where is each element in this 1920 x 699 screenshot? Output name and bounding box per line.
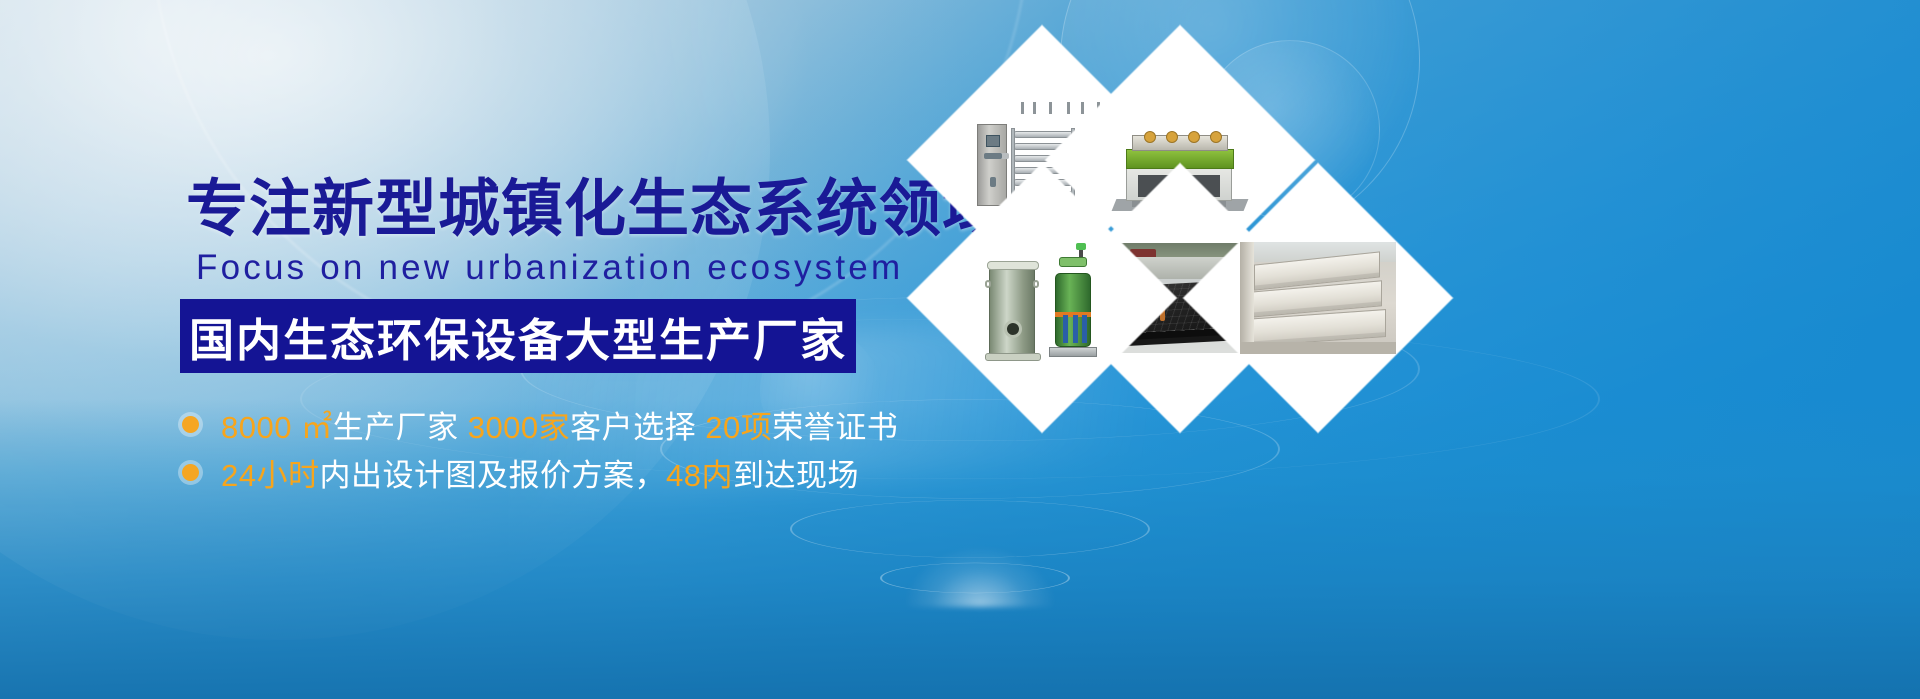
bullet-text: 24小时内出设计图及报价方案，48内到达现场 [221, 450, 859, 495]
bullet-text: 8000 ㎡生产厂家 3000家客户选择 20项荣誉证书 [221, 402, 898, 447]
bullet-item: 8000 ㎡生产厂家 3000家客户选择 20项荣誉证书 [182, 400, 898, 448]
banner-tagline-text: 国内生态环保设备大型生产厂家 [189, 304, 847, 369]
bullet-plain-text: 荣誉证书 [772, 410, 898, 445]
bullet-dot-icon [182, 464, 199, 481]
product-image-mosaic: 39 47 16 9 [905, 55, 1325, 485]
bullet-highlight-text: 20项 [705, 410, 772, 445]
bullet-plain-text: 到达现场 [733, 458, 859, 493]
banner-tagline-box: 国内生态环保设备大型生产厂家 [180, 299, 856, 373]
stacked-panels-photo [1240, 242, 1396, 354]
bullet-plain-text: 生产厂家 [333, 410, 468, 445]
banner-bullet-list: 8000 ㎡生产厂家 3000家客户选择 20项荣誉证书 24小时内出设计图及报… [182, 400, 898, 496]
bullet-highlight-text: 8000 ㎡ [221, 410, 333, 445]
bullet-dot-icon [182, 416, 199, 433]
bullet-highlight-text: 24小时 [221, 458, 319, 493]
banner-subheadline: Focus on new urbanization ecosystem [196, 250, 903, 285]
pump-vessels-illustration [967, 239, 1117, 357]
bullet-highlight-text: 3000家 [468, 410, 570, 445]
banner-copy-block: 专注新型城镇化生态系统领域 Focus on new urbanization … [0, 0, 960, 699]
banner-headline: 专注新型城镇化生态系统领域 [186, 179, 1005, 241]
bullet-highlight-text: 48内 [666, 458, 733, 493]
promotional-banner: 专注新型城镇化生态系统领域 Focus on new urbanization … [0, 0, 1920, 699]
bullet-plain-text: 客户选择 [570, 410, 705, 445]
bullet-item: 24小时内出设计图及报价方案，48内到达现场 [182, 448, 898, 496]
bullet-plain-text: 内出设计图及报价方案， [319, 458, 666, 493]
